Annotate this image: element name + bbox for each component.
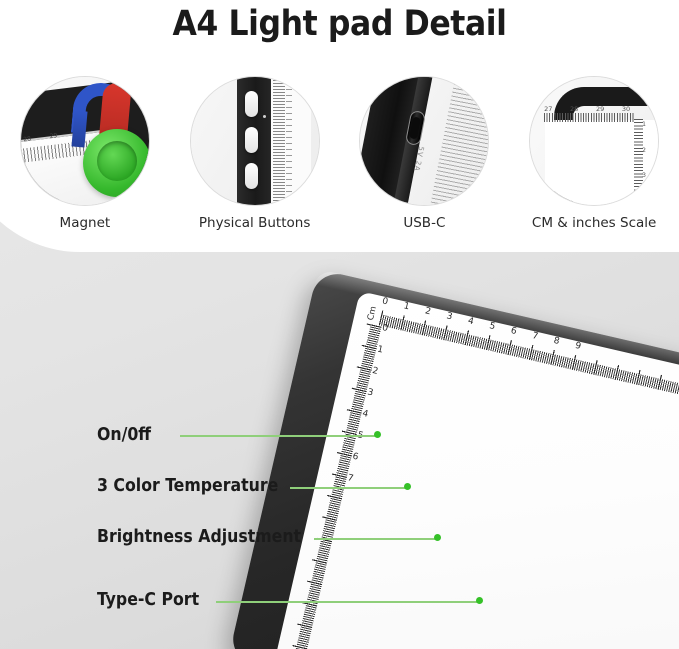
light-pad-product-image: 0 1 2 3 4 5 6 7 8 9 Cm 0 1 2 3 4 5 6	[300, 255, 679, 649]
scale-vertical-numbers: 1 2 3 4	[642, 121, 646, 205]
callout-dot-color-temperature	[404, 483, 411, 490]
detail-item-physical-buttons: Physical Buttons	[181, 76, 329, 231]
callout-dot-type-c-port	[476, 597, 483, 604]
callout-line-brightness	[314, 538, 439, 540]
physical-buttons-thumbnail-icon	[190, 76, 320, 206]
callout-label-brightness: Brightness Adjustment	[97, 527, 301, 547]
callout-line-type-c-port	[216, 601, 481, 603]
detail-item-magnet: 28 29 30 Magnet	[11, 76, 159, 231]
callout-dot-on-off	[374, 431, 381, 438]
detail-label-magnet: Magnet	[60, 215, 111, 231]
detail-label-cm-inches-scale: CM & inches Scale	[532, 215, 656, 231]
callout-label-color-temperature: 3 Color Temperature	[97, 476, 278, 496]
callout-label-type-c-port: Type-C Port	[97, 590, 199, 610]
detail-item-cm-inches-scale: 27 28 29 30 1 2 3 4 CM & inches Scale	[520, 76, 668, 231]
magnet-thumbnail-icon: 28 29 30	[20, 76, 150, 206]
page-title: A4 Light pad Detail	[0, 4, 679, 44]
callout-line-on-off	[180, 435, 378, 437]
detail-label-usb-c: USB-C	[403, 215, 445, 231]
usb-c-thumbnail-icon: 5V 2A	[359, 76, 489, 206]
callout-dot-brightness	[434, 534, 441, 541]
scale-horizontal-numbers: 27 28 29 30	[544, 105, 630, 113]
product-detail-infographic: A4 Light pad Detail 28 29 30 Magn	[0, 0, 679, 649]
cm-inches-scale-thumbnail-icon: 27 28 29 30 1 2 3 4	[529, 76, 659, 206]
ruler-cm-label: Cm	[366, 305, 379, 321]
callout-label-on-off: On/0ff	[97, 425, 151, 445]
detail-label-physical-buttons: Physical Buttons	[199, 215, 310, 231]
detail-thumbnail-row: 28 29 30 Magnet	[0, 76, 679, 226]
detail-item-usb-c: 5V 2A USB-C	[350, 76, 498, 231]
callout-line-color-temperature	[290, 487, 409, 489]
